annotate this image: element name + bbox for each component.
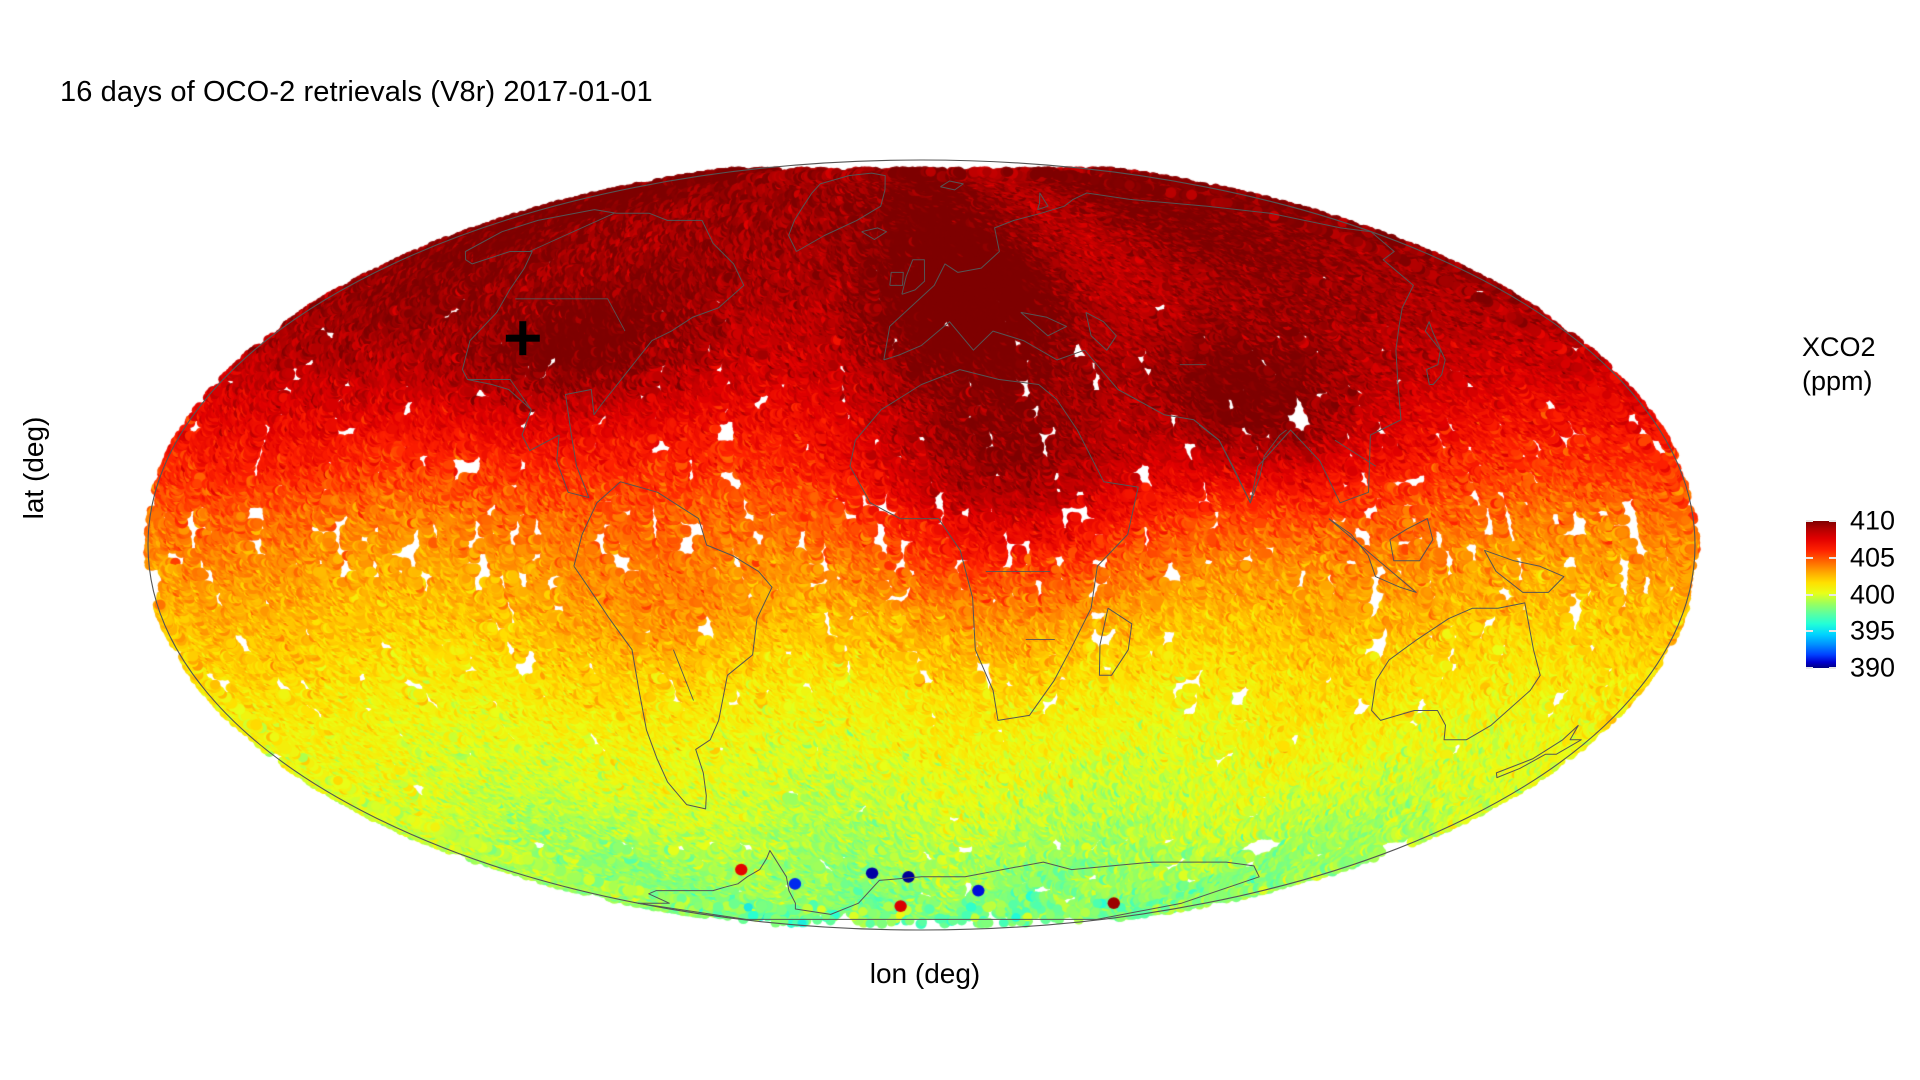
colorbar-tick-label: 400 [1850,579,1895,610]
colorbar-tickmark [1806,630,1813,632]
colorbar-tickmark [1829,667,1836,669]
colorbar-tick-label: 410 [1850,506,1895,537]
colorbar-tick-label: 405 [1850,542,1895,573]
colorbar-legend: XCO2 (ppm) [1786,330,1916,398]
oco2-xco2-figure: 16 days of OCO-2 retrievals (V8r) 2017-0… [0,0,1920,1080]
colorbar-tickmark [1806,520,1813,522]
colorbar-tickmark [1806,667,1813,669]
legend-title-units: (ppm) [1786,364,1916,398]
colorbar-tickmark [1829,594,1836,596]
colorbar-tickmark [1806,557,1813,559]
map-scatter-canvas [0,0,1920,1080]
colorbar-tickmark [1829,520,1836,522]
colorbar-tickmark [1806,594,1813,596]
colorbar-tick-label: 395 [1850,616,1895,647]
colorbar-tickmark [1829,557,1836,559]
colorbar-tick-label: 390 [1850,653,1895,684]
legend-title-xco2: XCO2 [1786,330,1916,364]
colorbar-tickmark [1829,630,1836,632]
colorbar: 410405400395390 [1806,521,1836,668]
